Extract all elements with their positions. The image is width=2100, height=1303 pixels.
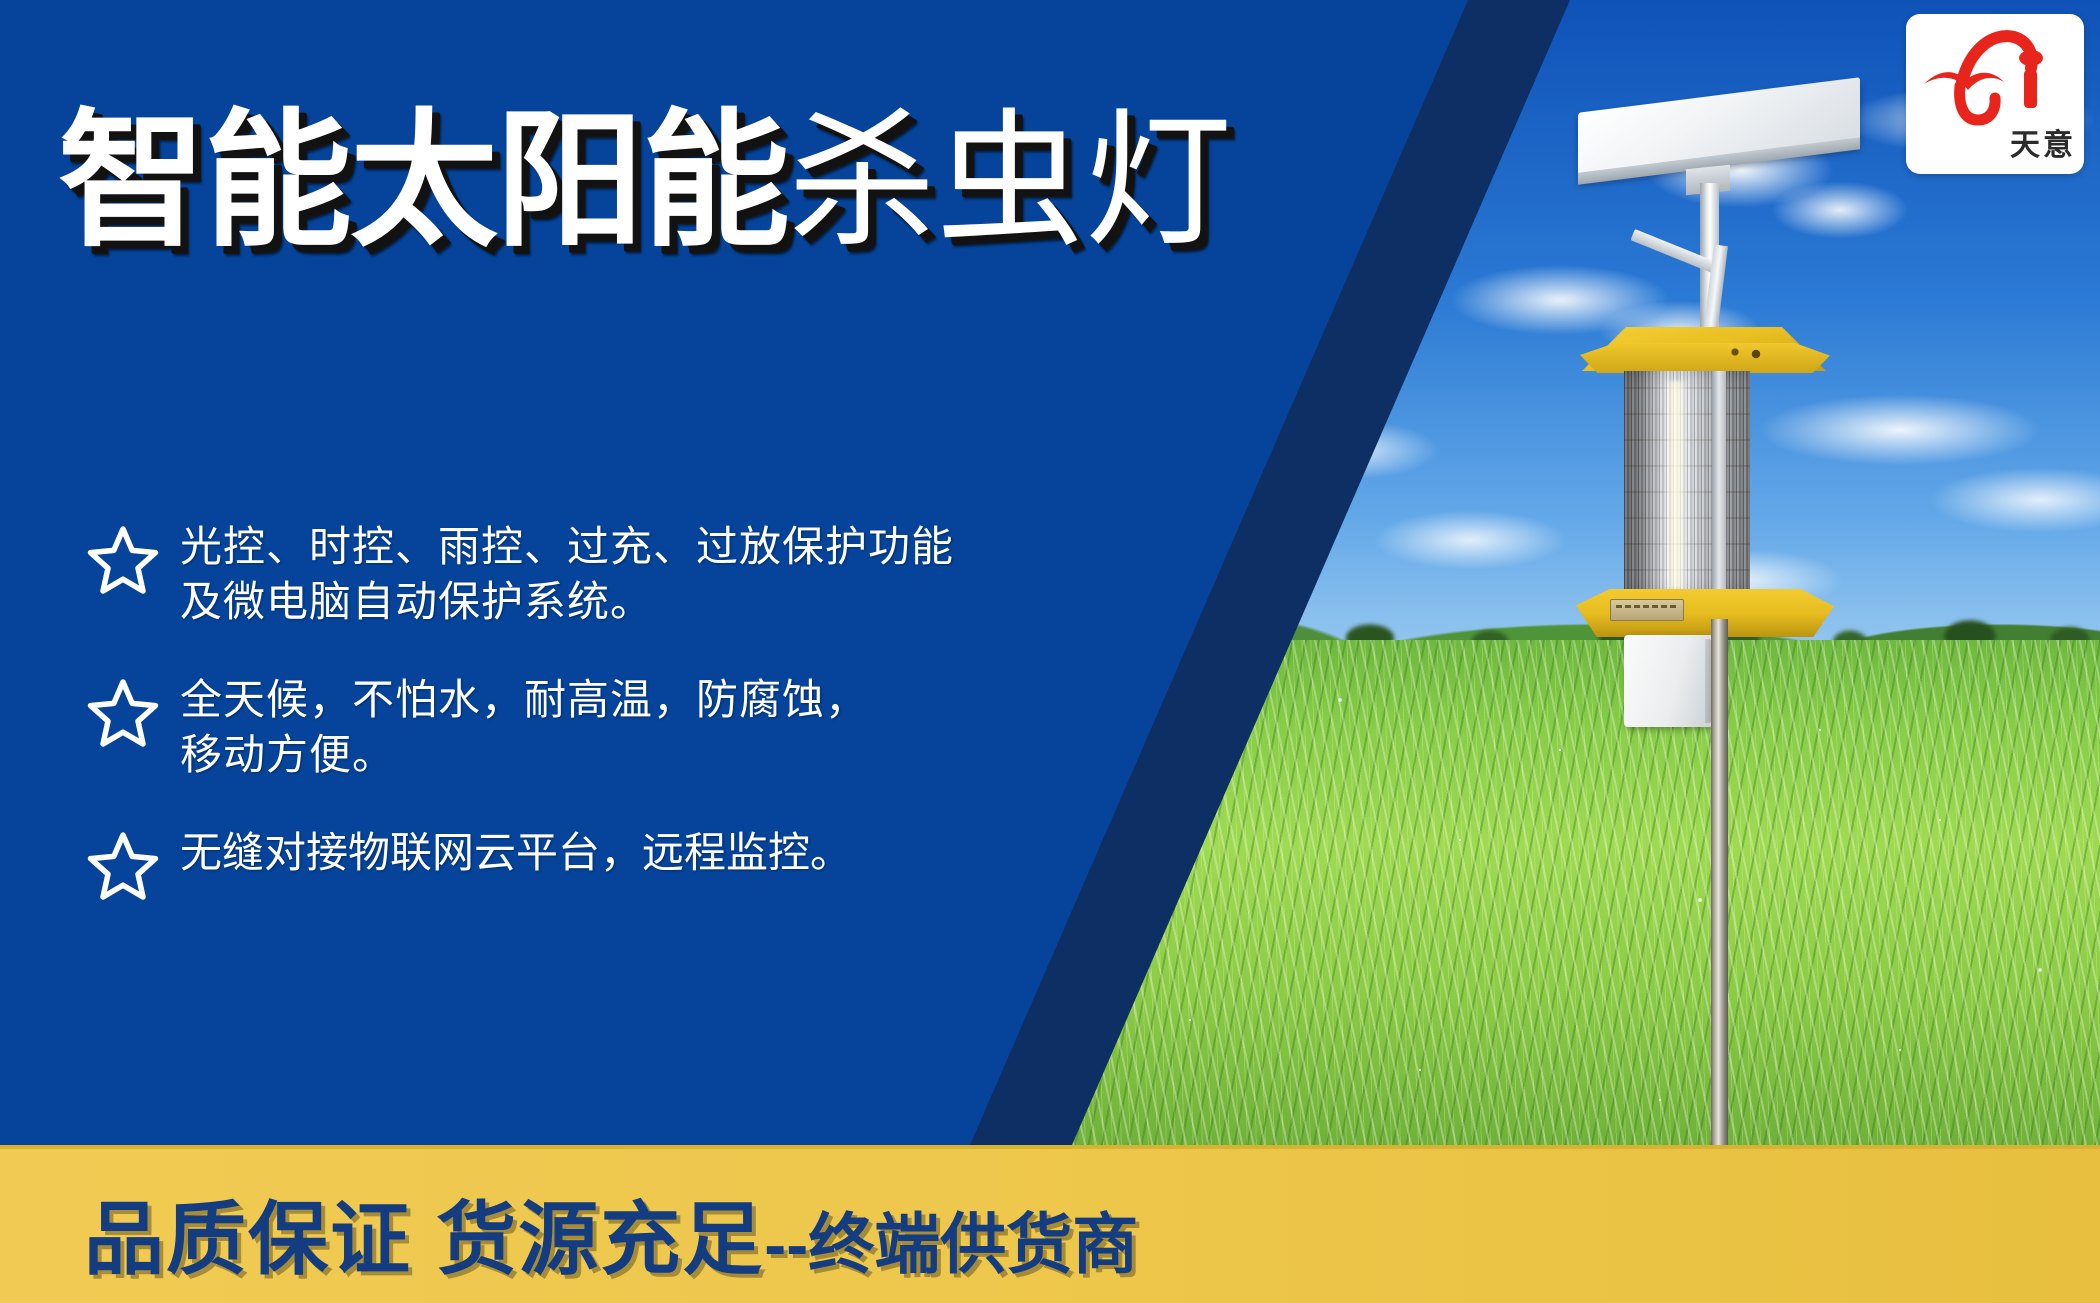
feature-line: 及微电脑自动保护系统。: [180, 575, 954, 630]
feature-line: 光控、时控、雨控、过充、过放保护功能: [180, 520, 954, 575]
footer-bar: 品质保证 货源充足--终端供货商: [0, 1145, 2100, 1303]
steel-mounting-pole: [1711, 619, 1728, 1219]
yi-swoosh-logo-icon: [1918, 24, 2072, 128]
footer-headline: 品质保证 货源充足--终端供货商: [84, 1175, 1138, 1291]
battery-enclosure: [1624, 635, 1718, 727]
feature-list: 光控、时控、雨控、过充、过放保护功能 及微电脑自动保护系统。 全天候，不怕水，耐…: [86, 520, 1086, 907]
center-mast: [1712, 371, 1726, 597]
footer-headline-main: 品质保证 货源充足: [84, 1195, 764, 1284]
feature-line: 移动方便。: [180, 728, 868, 783]
star-icon: [86, 524, 160, 601]
list-item-text: 无缝对接物联网云平台，远程监控。: [180, 826, 852, 881]
metal-grid-cage: [1624, 371, 1750, 597]
star-icon: [86, 830, 160, 907]
canopy-vent-holes: [1728, 345, 1768, 359]
yellow-top-canopy-wing: [1580, 343, 1830, 373]
feature-line: 无缝对接物联网云平台，远程监控。: [180, 826, 852, 881]
star-icon: [86, 677, 160, 754]
list-item: 无缝对接物联网云平台，远程监控。: [86, 826, 1086, 907]
footer-headline-suffix: --终端供货商: [764, 1207, 1138, 1281]
title-segment-primary: 智能太阳能: [58, 99, 788, 264]
solar-insect-killer-lamp: [1590, 95, 1890, 1215]
title-segment-secondary: 杀虫灯: [788, 99, 1232, 264]
list-item: 光控、时控、雨控、过充、过放保护功能 及微电脑自动保护系统。: [86, 520, 1086, 629]
feature-line: 全天候，不怕水，耐高温，防腐蚀，: [180, 673, 868, 728]
promo-banner: 智能太阳能杀虫灯 光控、时控、雨控、过充、过放保护功能 及微电脑自动保护系统。 …: [0, 0, 2100, 1303]
uv-light-tube: [1666, 381, 1686, 589]
list-item-text: 光控、时控、雨控、过充、过放保护功能 及微电脑自动保护系统。: [180, 520, 954, 629]
list-item: 全天候，不怕水，耐高温，防腐蚀， 移动方便。: [86, 673, 1086, 782]
brand-logo[interactable]: 天意: [1906, 14, 2084, 174]
product-name-plate: [1610, 599, 1684, 621]
brand-name-label: 天意: [1906, 120, 2076, 164]
list-item-text: 全天候，不怕水，耐高温，防腐蚀， 移动方便。: [180, 673, 868, 782]
page-title: 智能太阳能杀虫灯: [58, 108, 1232, 256]
